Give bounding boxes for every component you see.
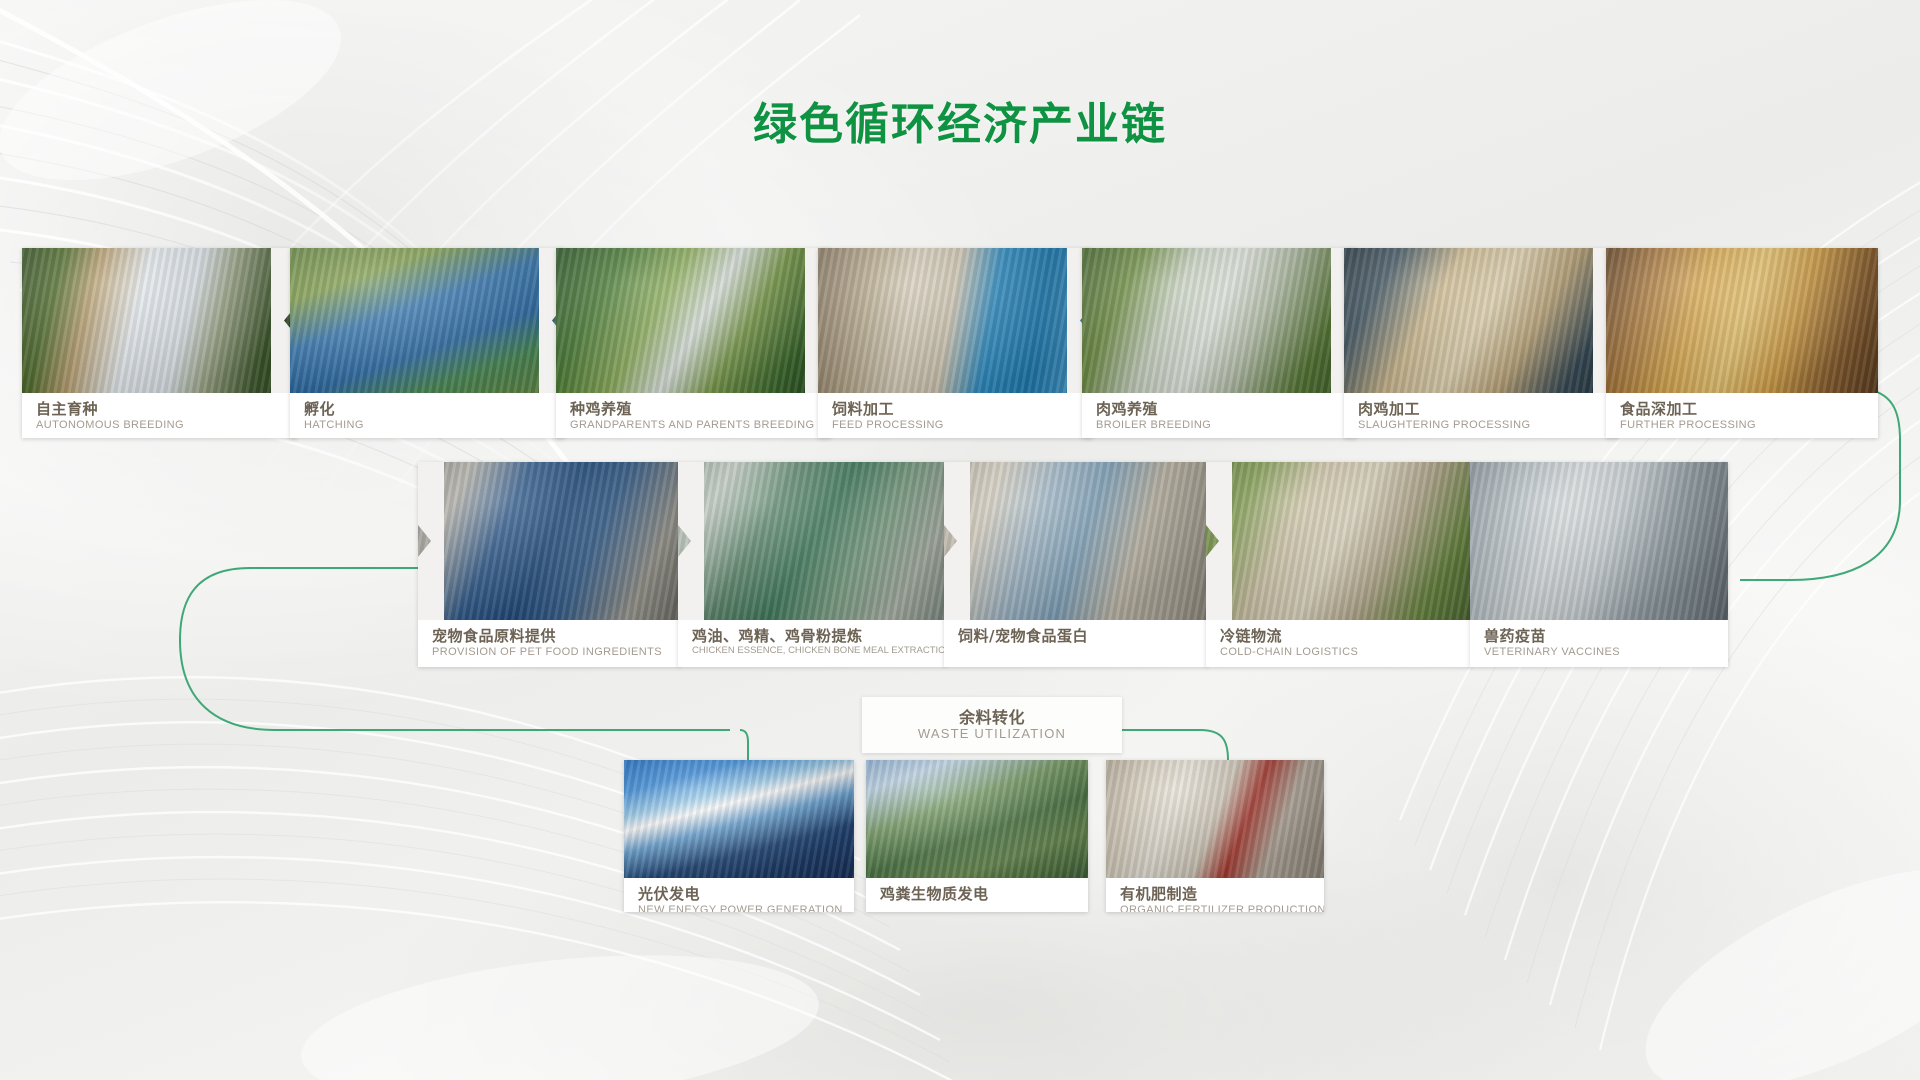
chain-card-row1-6[interactable]: 食品深加工FURTHER PROCESSING — [1606, 248, 1878, 438]
image-texture-overlay — [22, 248, 297, 393]
chain-card-row1-1-en-label: HATCHING — [304, 418, 553, 432]
chain-card-row1-0-caption: 自主育种AUTONOMOUS BREEDING — [22, 393, 297, 438]
chain-card-row1-1-caption: 孵化HATCHING — [290, 393, 565, 438]
image-texture-overlay — [556, 248, 831, 393]
image-texture-overlay — [818, 248, 1093, 393]
vaccine-plant-building-image — [1470, 462, 1728, 620]
chain-card-row1-2-photo — [556, 248, 831, 393]
cold-chain-warehouse-aerial-image — [1206, 462, 1472, 620]
image-texture-overlay — [866, 760, 1088, 878]
image-texture-overlay — [1606, 248, 1878, 393]
chain-card-row2-4-caption: 兽药疫苗VETERINARY VACCINES — [1470, 620, 1728, 667]
chain-card-row1-1[interactable]: 孵化HATCHING — [290, 248, 565, 438]
rendering-plant-blue-dryer-image — [418, 462, 680, 620]
chain-card-row1-3[interactable]: 饲料加工FEED PROCESSING — [818, 248, 1093, 438]
chain-card-row3-0-en-label: NEW ENEYGY POWER GENERATION — [638, 903, 842, 912]
page-title: 绿色循环经济产业链 — [0, 88, 1920, 152]
chain-card-row1-4-en-label: BROILER BREEDING — [1096, 418, 1345, 432]
chain-card-row2-2[interactable]: 饲料/宠物食品蛋白 — [944, 462, 1208, 667]
chain-card-row2-0-cn-label: 宠物食品原料提供 — [432, 627, 668, 645]
fried-chicken-nuggets-line-image — [1606, 248, 1878, 393]
chain-card-row1-5-en-label: SLAUGHTERING PROCESSING — [1358, 418, 1607, 432]
chain-card-row3-0-caption: 光伏发电NEW ENEYGY POWER GENERATION — [624, 878, 854, 912]
chain-card-row1-5-photo — [1344, 248, 1619, 393]
chain-card-row3-2-en-label: ORGANIC FERTILIZER PRODUCTION — [1120, 903, 1312, 912]
chain-card-row2-3-cn-label: 冷链物流 — [1220, 627, 1460, 645]
chain-card-row3-2-photo — [1106, 760, 1324, 878]
chain-card-row1-0-cn-label: 自主育种 — [36, 400, 285, 418]
blue-roof-hatchery-buildings-image — [290, 248, 565, 393]
chain-card-row2-4-en-label: VETERINARY VACCINES — [1484, 645, 1716, 659]
chain-card-row1-2-caption: 种鸡养殖GRANDPARENTS AND PARENTS BREEDING — [556, 393, 831, 438]
chain-card-row1-6-en-label: FURTHER PROCESSING — [1620, 418, 1866, 432]
chain-card-row2-1-photo — [678, 462, 946, 620]
chain-card-row2-2-photo — [944, 462, 1208, 620]
chain-card-row1-1-cn-label: 孵化 — [304, 400, 553, 418]
chain-card-row1-5-cn-label: 肉鸡加工 — [1358, 400, 1607, 418]
chain-card-row3-0-photo — [624, 760, 854, 878]
chain-card-row1-2-en-label: GRANDPARENTS AND PARENTS BREEDING — [570, 418, 819, 432]
extraction-plant-interior-image — [678, 462, 946, 620]
image-texture-overlay — [1344, 248, 1619, 393]
chain-card-row2-3-photo — [1206, 462, 1472, 620]
chain-card-row3-1-photo — [866, 760, 1088, 878]
chain-card-row1-6-photo — [1606, 248, 1878, 393]
waste-node-cn-label: 余料转化 — [862, 709, 1122, 727]
image-texture-overlay — [1082, 248, 1357, 393]
chain-card-row1-3-caption: 饲料加工FEED PROCESSING — [818, 393, 1093, 438]
chain-card-row1-4[interactable]: 肉鸡养殖BROILER BREEDING — [1082, 248, 1357, 438]
chain-card-row2-3-caption: 冷链物流COLD-CHAIN LOGISTICS — [1206, 620, 1472, 667]
chain-card-row2-1-caption: 鸡油、鸡精、鸡骨粉提炼CHICKEN ESSENCE, CHICKEN BONE… — [678, 620, 946, 667]
image-texture-overlay — [290, 248, 565, 393]
green-hillside-breeder-houses-image — [556, 248, 831, 393]
chain-card-row1-0-en-label: AUTONOMOUS BREEDING — [36, 418, 285, 432]
protein-factory-buildings-image — [944, 462, 1208, 620]
chain-card-row1-0-photo — [22, 248, 297, 393]
chain-card-row2-1-en-label: CHICKEN ESSENCE, CHICKEN BONE MEAL EXTRA… — [692, 645, 934, 657]
chain-card-row1-3-photo — [818, 248, 1093, 393]
chain-card-row1-4-photo — [1082, 248, 1357, 393]
chain-card-row2-2-cn-label: 饲料/宠物食品蛋白 — [958, 627, 1196, 645]
chain-card-row3-0[interactable]: 光伏发电NEW ENEYGY POWER GENERATION — [624, 760, 854, 912]
image-texture-overlay — [418, 462, 680, 620]
chain-card-row1-5[interactable]: 肉鸡加工SLAUGHTERING PROCESSING — [1344, 248, 1619, 438]
poultry-processing-line-image — [1344, 248, 1619, 393]
chain-card-row1-1-photo — [290, 248, 565, 393]
broiler-houses-rows-fields-image — [1082, 248, 1357, 393]
aerial-breeding-farm-valley-image — [22, 248, 297, 393]
chain-card-row2-0[interactable]: 宠物食品原料提供PROVISION OF PET FOOD INGREDIENT… — [418, 462, 680, 667]
waste-utilization-node[interactable]: 余料转化 WASTE UTILIZATION — [862, 697, 1122, 753]
chain-card-row2-3[interactable]: 冷链物流COLD-CHAIN LOGISTICS — [1206, 462, 1472, 667]
chain-card-row2-0-photo — [418, 462, 680, 620]
chain-card-row1-0[interactable]: 自主育种AUTONOMOUS BREEDING — [22, 248, 297, 438]
chain-card-row2-0-caption: 宠物食品原料提供PROVISION OF PET FOOD INGREDIENT… — [418, 620, 680, 667]
chain-card-row2-3-en-label: COLD-CHAIN LOGISTICS — [1220, 645, 1460, 659]
chain-card-row1-6-caption: 食品深加工FURTHER PROCESSING — [1606, 393, 1878, 438]
chain-card-row2-0-en-label: PROVISION OF PET FOOD INGREDIENTS — [432, 645, 668, 659]
chain-card-row2-1-cn-label: 鸡油、鸡精、鸡骨粉提炼 — [692, 627, 934, 645]
chain-card-row1-4-caption: 肉鸡养殖BROILER BREEDING — [1082, 393, 1357, 438]
image-texture-overlay — [678, 462, 946, 620]
chain-card-row2-2-caption: 饲料/宠物食品蛋白 — [944, 620, 1208, 667]
chain-card-row1-6-cn-label: 食品深加工 — [1620, 400, 1866, 418]
chain-card-row2-4-photo — [1470, 462, 1728, 620]
solar-panels-sun-sky-image — [624, 760, 854, 878]
fertilizer-warehouse-bags-truck-image — [1106, 760, 1324, 878]
image-texture-overlay — [624, 760, 854, 878]
biomass-power-plant-hills-image — [866, 760, 1088, 878]
chain-card-row1-4-cn-label: 肉鸡养殖 — [1096, 400, 1345, 418]
chain-card-row3-0-cn-label: 光伏发电 — [638, 885, 842, 903]
chain-card-row1-5-caption: 肉鸡加工SLAUGHTERING PROCESSING — [1344, 393, 1619, 438]
image-texture-overlay — [1106, 760, 1324, 878]
image-texture-overlay — [1206, 462, 1472, 620]
chain-card-row3-1[interactable]: 鸡粪生物质发电 — [866, 760, 1088, 912]
image-texture-overlay — [944, 462, 1208, 620]
chain-card-row2-4[interactable]: 兽药疫苗VETERINARY VACCINES — [1470, 462, 1728, 667]
chain-card-row3-2[interactable]: 有机肥制造ORGANIC FERTILIZER PRODUCTION — [1106, 760, 1324, 912]
chain-card-row1-3-en-label: FEED PROCESSING — [832, 418, 1081, 432]
chain-card-row2-1[interactable]: 鸡油、鸡精、鸡骨粉提炼CHICKEN ESSENCE, CHICKEN BONE… — [678, 462, 946, 667]
chain-card-row1-2-cn-label: 种鸡养殖 — [570, 400, 819, 418]
chain-card-row2-4-cn-label: 兽药疫苗 — [1484, 627, 1716, 645]
chain-card-row1-3-cn-label: 饲料加工 — [832, 400, 1081, 418]
chain-card-row3-1-cn-label: 鸡粪生物质发电 — [880, 885, 1076, 903]
chain-card-row3-2-caption: 有机肥制造ORGANIC FERTILIZER PRODUCTION — [1106, 878, 1324, 912]
chain-card-row3-1-caption: 鸡粪生物质发电 — [866, 878, 1088, 912]
image-texture-overlay — [1470, 462, 1728, 620]
chain-card-row1-2[interactable]: 种鸡养殖GRANDPARENTS AND PARENTS BREEDING — [556, 248, 831, 438]
feed-mill-silos-blue-tower-image — [818, 248, 1093, 393]
waste-node-en-label: WASTE UTILIZATION — [862, 727, 1122, 741]
chain-card-row3-2-cn-label: 有机肥制造 — [1120, 885, 1312, 903]
